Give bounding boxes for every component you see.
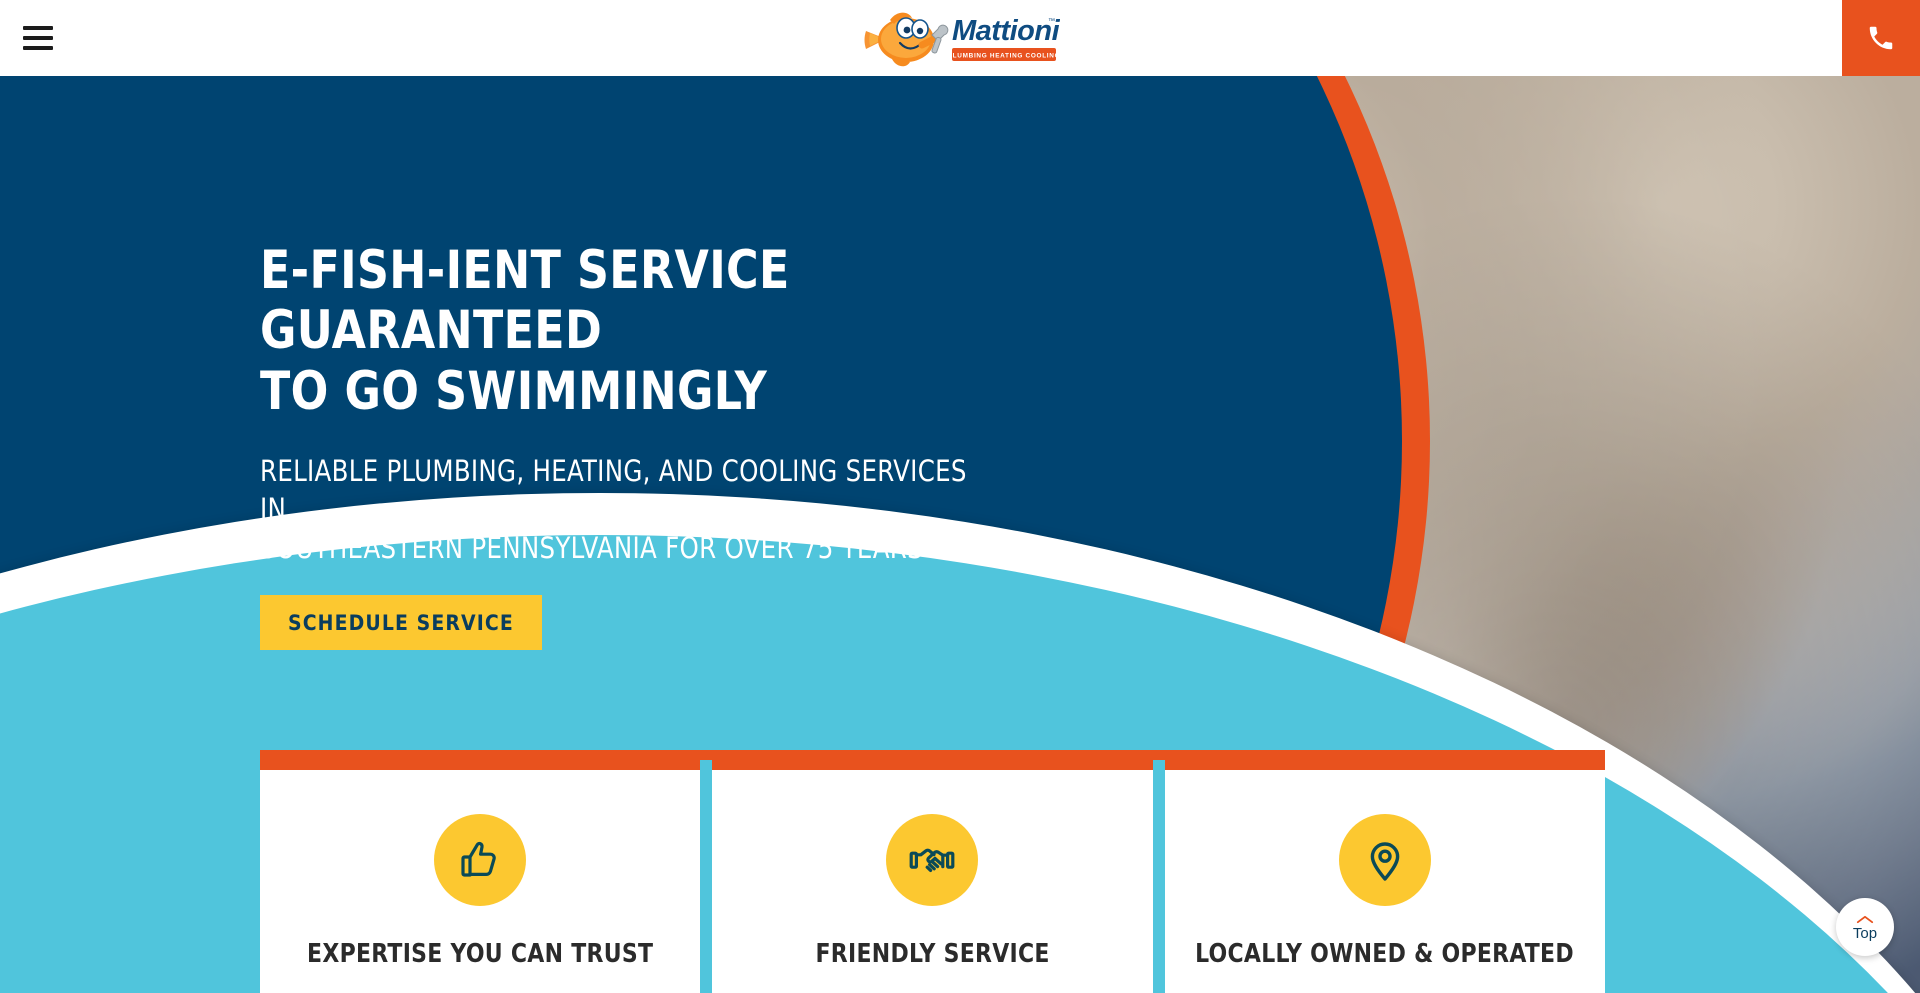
svg-text:PLUMBING HEATING COOLING: PLUMBING HEATING COOLING — [948, 53, 1060, 60]
svg-text:Mattioni: Mattioni — [952, 15, 1060, 47]
hero-subheadline: RELIABLE PLUMBING, HEATING, AND COOLING … — [260, 452, 974, 567]
feature-card-expertise[interactable]: EXPERTISE YOU CAN TRUST — [260, 760, 700, 993]
handshake-icon — [908, 836, 956, 884]
hamburger-bar-2 — [23, 36, 53, 40]
hamburger-bar-1 — [23, 26, 53, 30]
feature-card-locally-owned[interactable]: LOCALLY OWNED & OPERATED — [1165, 760, 1605, 993]
feature-card-friendly-service[interactable]: FRIENDLY SERVICE — [712, 760, 1152, 993]
phone-call-button[interactable] — [1842, 0, 1920, 76]
feature-cards: EXPERTISE YOU CAN TRUST FRIENDLY SERVICE — [260, 760, 1605, 993]
schedule-service-button[interactable]: SCHEDULE SERVICE — [260, 595, 542, 650]
hero-subheadline-line-2: SOUTHEASTERN PENNSYLVANIA FOR OVER 75 YE… — [260, 531, 923, 565]
feature-icon-badge — [434, 814, 526, 906]
hamburger-bar-3 — [23, 46, 53, 50]
menu-icon[interactable] — [12, 16, 64, 60]
hero-headline: E-FISH-IENT SERVICE GUARANTEED TO GO SWI… — [260, 241, 967, 422]
feature-card-title: EXPERTISE YOU CAN TRUST — [307, 939, 653, 969]
map-pin-icon — [1361, 836, 1409, 884]
hero-section: E-FISH-IENT SERVICE GUARANTEED TO GO SWI… — [0, 76, 1920, 993]
svg-text:™: ™ — [1048, 18, 1055, 25]
feature-icon-badge — [886, 814, 978, 906]
hero-headline-line-2: TO GO SWIMMINGLY — [260, 361, 767, 422]
hero-subheadline-line-1: RELIABLE PLUMBING, HEATING, AND COOLING … — [260, 454, 967, 526]
hero-headline-line-1: E-FISH-IENT SERVICE GUARANTEED — [260, 240, 790, 361]
feature-card-title: LOCALLY OWNED & OPERATED — [1195, 939, 1574, 969]
mattioni-logo-icon: Mattioni ™ PLUMBING HEATING COOLING — [860, 5, 1060, 73]
scroll-to-top-label: Top — [1853, 926, 1877, 941]
chevron-up-icon — [1856, 914, 1874, 925]
feature-icon-badge — [1339, 814, 1431, 906]
feature-card-title: FRIENDLY SERVICE — [815, 939, 1049, 969]
site-logo[interactable]: Mattioni ™ PLUMBING HEATING COOLING — [855, 4, 1065, 74]
phone-icon — [1866, 23, 1896, 53]
scroll-to-top-button[interactable]: Top — [1836, 898, 1894, 956]
thumbs-up-icon — [456, 836, 504, 884]
site-header: Mattioni ™ PLUMBING HEATING COOLING — [0, 0, 1920, 76]
hero-copy: E-FISH-IENT SERVICE GUARANTEED TO GO SWI… — [260, 241, 1020, 650]
